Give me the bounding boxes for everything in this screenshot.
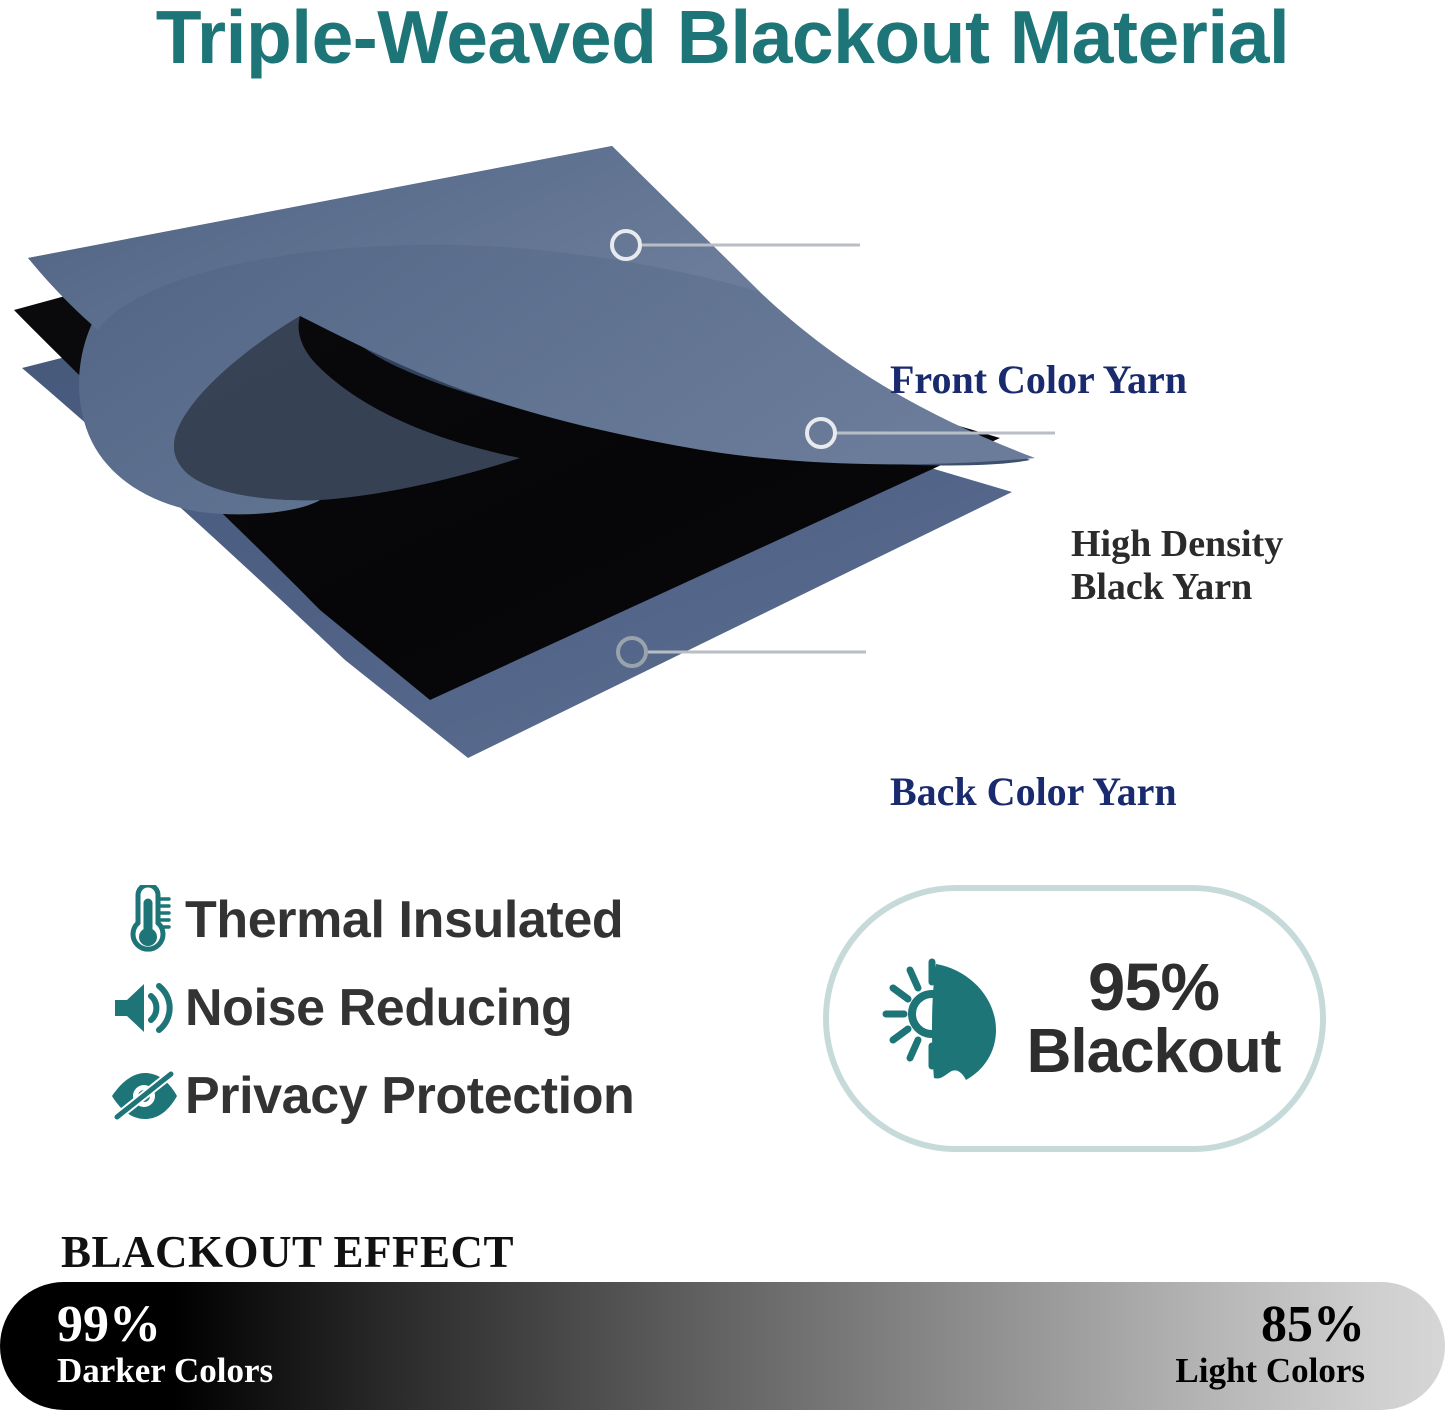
callout-label-line-1: High Density xyxy=(1071,523,1283,565)
page-title: Triple-Weaved Blackout Material xyxy=(0,0,1445,80)
badge-percent: 95% xyxy=(1088,954,1219,1021)
badge-text: 95% Blackout xyxy=(1027,954,1281,1083)
darker-caption: Darker Colors xyxy=(57,1353,273,1389)
blackout-effect-heading: BLACKOUT EFFECT xyxy=(61,1226,514,1278)
speaker-sound-icon xyxy=(103,978,185,1038)
feature-label-noise-reducing: Noise Reducing xyxy=(185,978,572,1038)
light-percent: 85% xyxy=(1175,1298,1365,1351)
feature-label-thermal-insulated: Thermal Insulated xyxy=(185,890,623,950)
feature-item-thermal-insulated: Thermal Insulated xyxy=(103,876,743,964)
fabric-layers-diagram: Front Color Yarn High Density Black Yarn… xyxy=(0,140,1445,780)
eye-slash-icon xyxy=(103,1069,185,1123)
callout-label-back-color-yarn: Back Color Yarn xyxy=(890,770,1177,815)
callout-label-high-density-black-yarn: High Density Black Yarn xyxy=(1071,523,1283,608)
thermometer-icon xyxy=(103,885,185,955)
callout-label-line-2: Black Yarn xyxy=(1071,566,1252,608)
blackout-badge: 95% Blackout xyxy=(823,885,1326,1152)
fabric-layers-illustration xyxy=(0,140,1445,780)
callout-label-front-color-yarn: Front Color Yarn xyxy=(890,358,1187,403)
feature-list: Thermal Insulated Noise Reducing Privacy… xyxy=(103,876,743,1140)
light-caption: Light Colors xyxy=(1175,1353,1365,1389)
feature-item-noise-reducing: Noise Reducing xyxy=(103,964,743,1052)
darker-percent: 99% xyxy=(57,1298,273,1351)
feature-item-privacy-protection: Privacy Protection xyxy=(103,1052,743,1140)
sun-blocked-by-curtain-icon xyxy=(869,944,1019,1094)
blackout-effect-darker: 99% Darker Colors xyxy=(57,1298,273,1389)
badge-word: Blackout xyxy=(1027,1021,1281,1083)
feature-label-privacy-protection: Privacy Protection xyxy=(185,1066,634,1126)
blackout-effect-light: 85% Light Colors xyxy=(1175,1298,1365,1389)
